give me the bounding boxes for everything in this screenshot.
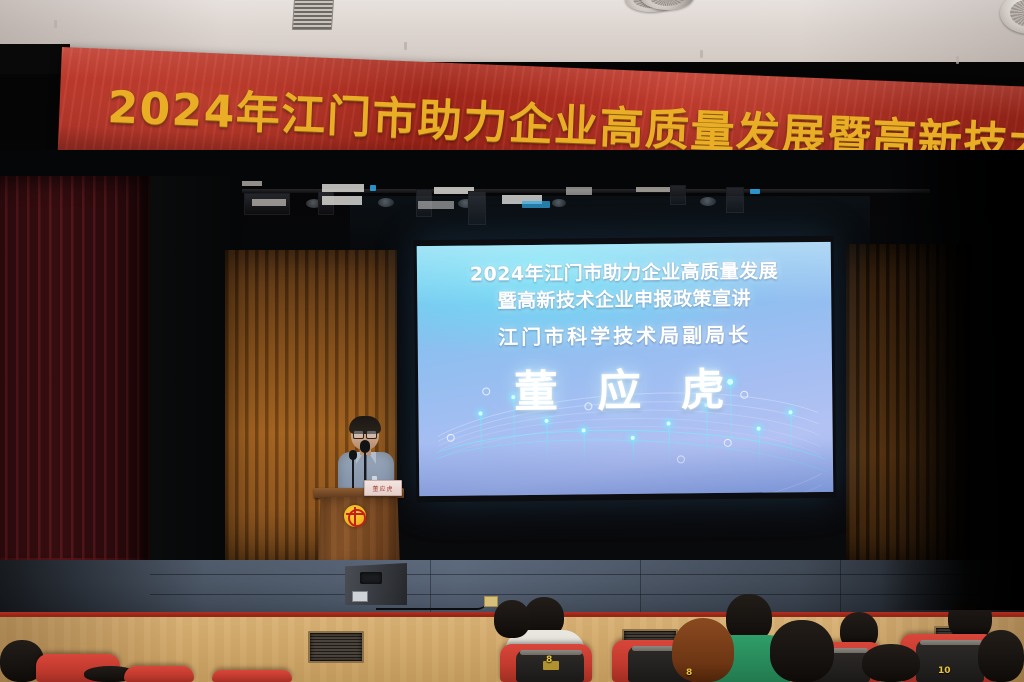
audience-head — [862, 644, 920, 682]
ceiling-dark-corner — [0, 44, 70, 74]
glow-dot — [757, 427, 761, 431]
trade-union-emblem-icon — [344, 505, 366, 527]
stage-light-blue-icon — [750, 189, 760, 194]
stage-light-icon — [322, 196, 362, 205]
microphone-head — [349, 450, 357, 460]
stage-light-icon — [700, 197, 716, 206]
screen-title-line2: 暨高新技术企业申报政策宣讲 — [417, 283, 831, 314]
sprinkler-icon — [956, 56, 959, 64]
audience-head — [978, 630, 1024, 682]
screen-bottom-shade — [419, 438, 834, 496]
podium-name-card-text: 董应虎 — [372, 484, 393, 493]
sprinkler-icon — [404, 42, 407, 50]
air-vent-icon — [292, 0, 334, 30]
stage-light-icon — [378, 198, 394, 207]
glow-dot — [667, 422, 671, 426]
glasses-icon — [353, 430, 377, 437]
projection-screen-frame: 2024年江门市助力企业高质量发展 暨高新技术企业申报政策宣讲 江门市科学技术局… — [414, 236, 837, 502]
emblem-bar — [346, 513, 364, 515]
glow-dot — [582, 428, 586, 432]
stage-light-icon — [322, 184, 364, 192]
stage-light-lens — [252, 199, 286, 206]
screen-speaker-name: 董 应 虎 — [418, 353, 833, 421]
projection-screen: 2024年江门市助力企业高质量发展 暨高新技术企业申报政策宣讲 江门市科学技术局… — [417, 242, 834, 496]
seat-number: 8 — [686, 668, 692, 678]
seat-number: 10 — [938, 666, 951, 676]
right-vignette — [880, 150, 1024, 610]
stage-light-icon — [726, 187, 744, 213]
podium-name-card: 董应虎 — [364, 480, 402, 496]
audience-head — [494, 600, 530, 638]
screen-speaker-title: 江门市科学技术局副局长 — [417, 318, 831, 351]
stage-light-icon — [566, 187, 592, 195]
monitor-connector-panel — [352, 591, 368, 602]
ring-dot — [447, 434, 455, 442]
audio-cable — [376, 599, 488, 610]
lighting-truss — [230, 183, 930, 231]
microphone-stem — [352, 455, 354, 489]
seat-number: 8 — [546, 655, 552, 665]
cable-tape-marker — [484, 596, 498, 607]
stage-light-blue-icon — [370, 185, 376, 191]
audience-seat — [212, 670, 292, 682]
stage-curtain-left — [0, 176, 162, 586]
audience-head — [672, 618, 734, 682]
apron-vent-grille-icon — [308, 631, 364, 663]
screen-title-line1: 2024年江门市助力企业高质量发展 — [417, 256, 831, 287]
audience-head — [770, 620, 834, 682]
sprinkler-icon — [700, 50, 703, 58]
stage-light-icon — [552, 199, 566, 207]
microphone-head — [360, 440, 370, 453]
audience-seat — [124, 666, 194, 682]
seat-strip — [920, 640, 982, 645]
monitor-handle — [360, 572, 382, 584]
stage-light-icon — [418, 201, 454, 209]
sprinkler-icon — [54, 20, 57, 28]
stage-light-icon — [468, 191, 486, 225]
stage-light-icon — [670, 185, 686, 205]
conference-hall-photo: 2024年江门市助力企业高质量发展暨高新技术企业 — [0, 0, 1024, 682]
stage-light-blue-icon — [522, 201, 550, 208]
